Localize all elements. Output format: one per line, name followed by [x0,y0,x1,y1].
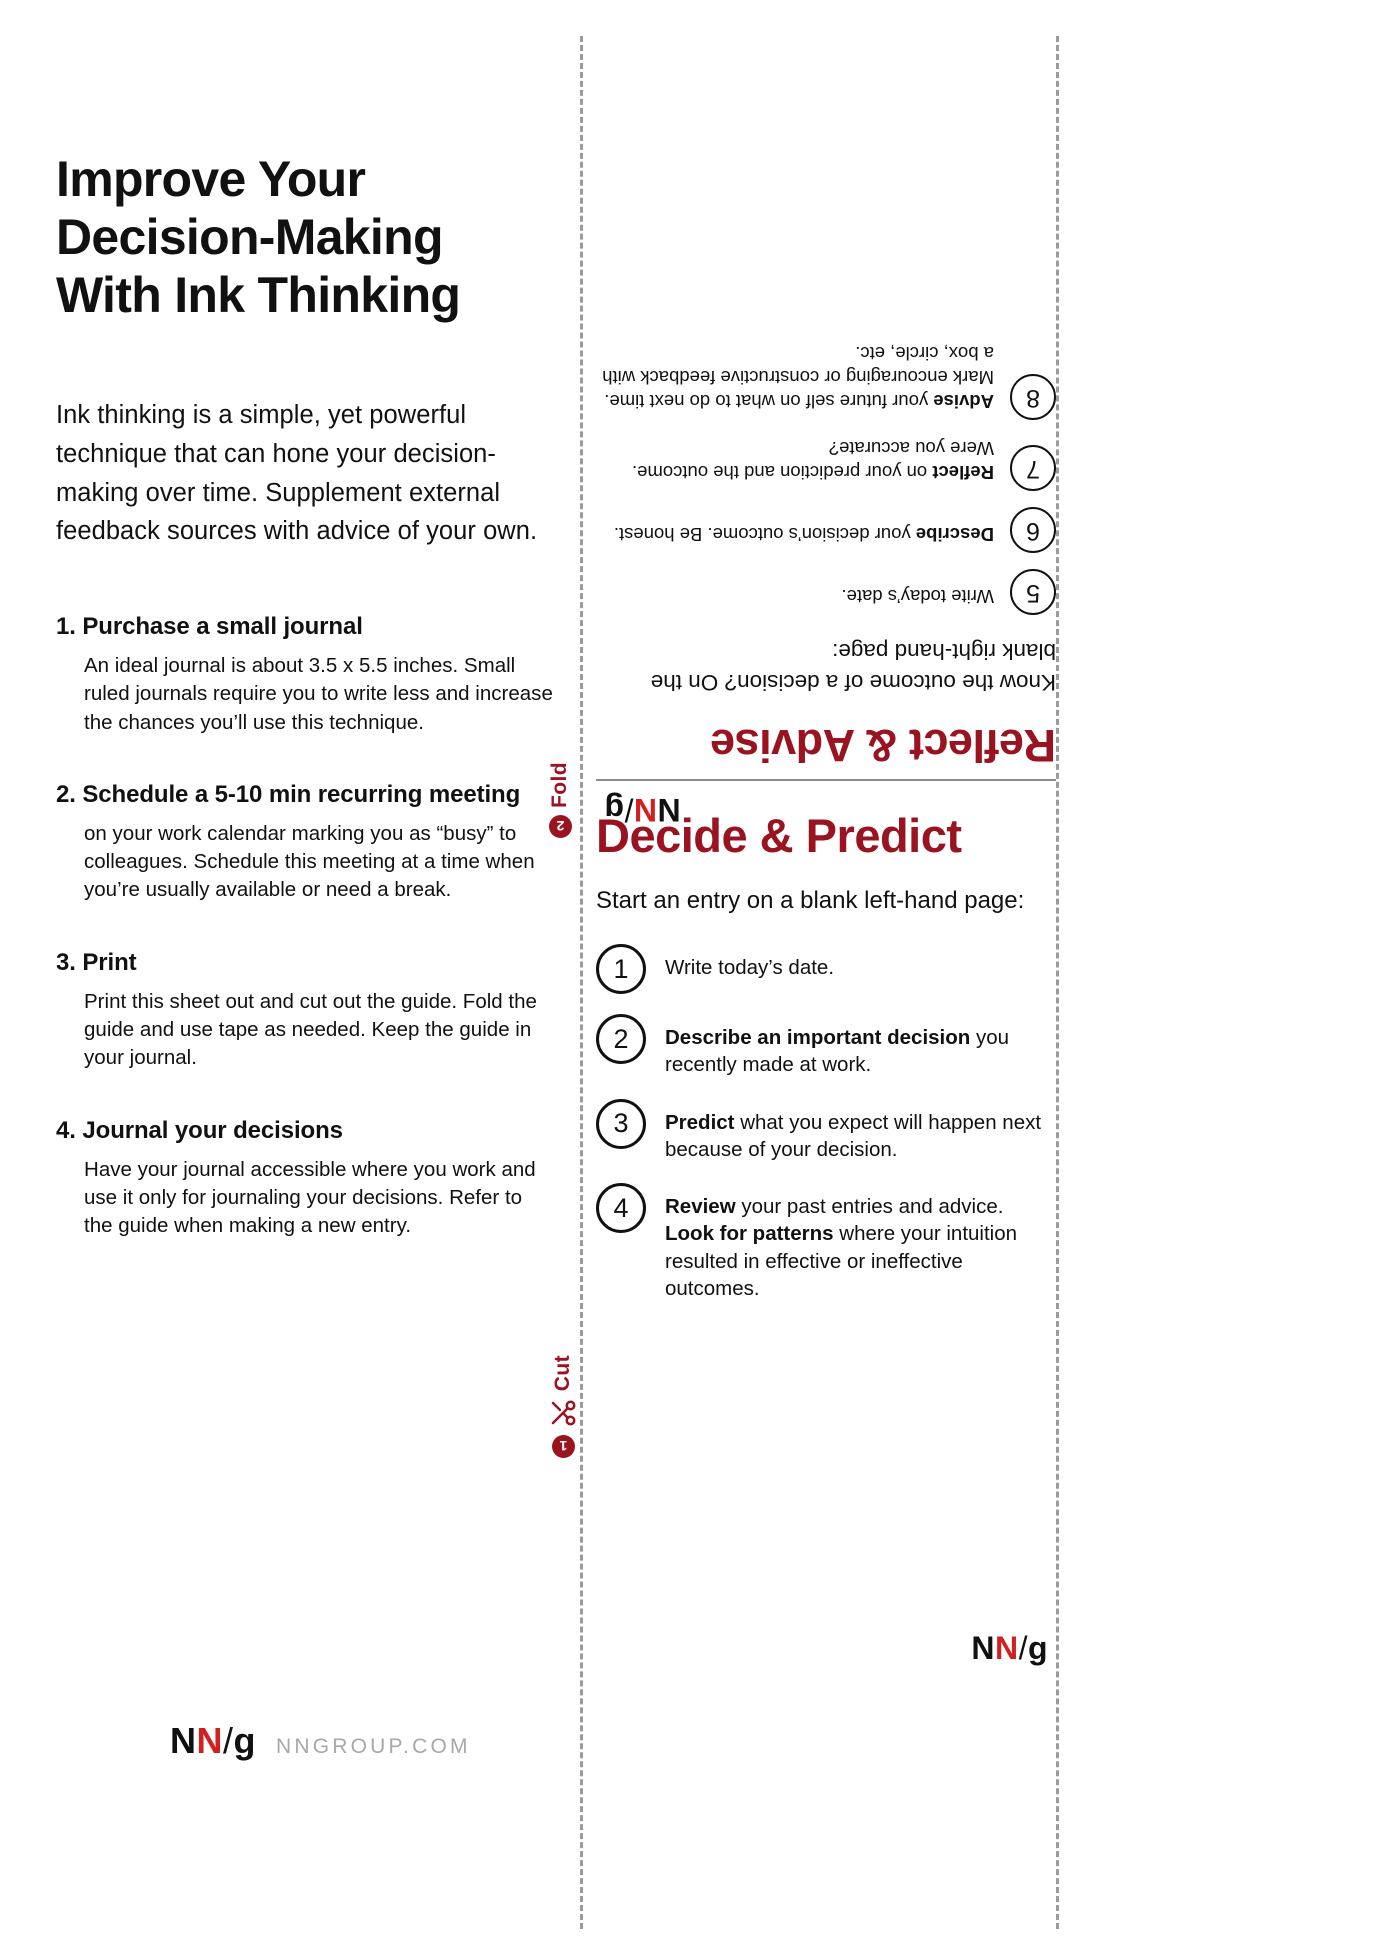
card-logo: NN/g [971,1630,1048,1910]
logo-letter-g: g [234,1720,257,1762]
step-number-circle: 8 [1010,374,1056,420]
scissors-icon [548,1398,578,1428]
step-text: Review your past entries and advice. Loo… [665,1183,1056,1302]
step-body: on your work calendar marking you as “bu… [56,820,556,905]
step-text-lead: Predict [665,1111,735,1134]
list-item: 3 Predict what you expect will happen ne… [596,1099,1056,1164]
instruction-step: 3. Print Print this sheet out and cut ou… [56,949,556,1073]
fold-marker-label: Fold [548,762,572,808]
nng-logo: NN/g [971,1630,1048,1667]
card-title: Decide & Predict [596,810,1056,862]
instructions-column: Improve Your Decision-Making With Ink Th… [56,150,556,1284]
card-title: Reflect & Advise [596,721,1056,771]
step-text-lead: Describe an important decision [665,1026,970,1049]
fold-marker: Fold 2 [548,762,572,838]
step-number-circle: 1 [596,944,646,994]
cut-marker-badge: 1 [552,1435,575,1458]
page-title: Improve Your Decision-Making With Ink Th… [56,150,556,324]
logo-url-text: NNGROUP.COM [276,1735,471,1759]
step-body: Have your journal accessible where you w… [56,1156,556,1241]
step-number-circle: 5 [1010,570,1056,616]
footer-logo-row: NN/g NNGROUP.COM [170,1720,471,1762]
logo-letter-n-black: N [971,1630,995,1667]
step-text-lead: Reflect [932,463,994,484]
step-heading: 2. Schedule a 5-10 min recurring meeting [56,781,556,809]
card-reflect-and-advise: Reflect & Advise Know the outcome of a d… [596,80,1056,770]
step-heading: 3. Print [56,949,556,977]
step-text-lead2: Look for patterns [665,1222,834,1245]
card-decide-and-predict: Decide & Predict Start an entry on a bla… [596,810,1056,1910]
list-item: 4 Review your past entries and advice. L… [596,1183,1056,1302]
logo-letter-n-red: N [197,1720,224,1762]
step-number-circle: 6 [1010,508,1056,554]
step-text: Write today’s date. [665,944,834,981]
cut-marker-label: Cut [551,1355,575,1391]
list-item: 8 Advise your future self on what to do … [596,341,1056,420]
logo-slash: / [1019,1630,1028,1667]
instruction-step: 2. Schedule a 5-10 min recurring meeting… [56,781,556,905]
step-text-lead: Advise [933,391,994,412]
step-text-lead: Describe [916,525,994,546]
card-lede: Start an entry on a blank left-hand page… [596,884,1056,919]
step-body: An ideal journal is about 3.5 x 5.5 inch… [56,652,556,737]
numbered-step-list: 1 Write today’s date. 2 Describe an impo… [596,944,1056,1302]
list-item: 7 Reflect on your prediction and the out… [596,436,1056,491]
step-body: Print this sheet out and cut out the gui… [56,988,556,1073]
fold-separator-line [596,779,1056,781]
step-text: Predict what you expect will happen next… [665,1099,1056,1164]
step-text-rest: your past entries and advice. [736,1195,1004,1218]
step-text: Write today’s date. [841,584,994,615]
fold-marker-badge: 2 [549,815,572,838]
cut-guide-line-left [580,36,583,1929]
step-text-rest: Write today’s date. [665,956,834,979]
step-number-circle: 3 [596,1099,646,1149]
step-text: Describe an important decision you recen… [665,1014,1056,1079]
cut-marker: Cut 1 [548,1355,578,1458]
intro-paragraph: Ink thinking is a simple, yet powerful t… [56,396,556,551]
step-number-circle: 4 [596,1183,646,1233]
list-item: 2 Describe an important decision you rec… [596,1014,1056,1079]
list-item: 5 Write today’s date. [596,570,1056,616]
logo-slash: / [223,1720,234,1762]
step-text-rest: Write today’s date. [841,587,994,608]
step-heading: 1. Purchase a small journal [56,613,556,641]
list-item: 6 Describe your decision’s outcome. Be h… [596,508,1056,554]
printable-guide-page: Improve Your Decision-Making With Ink Th… [0,0,1384,1957]
step-number-circle: 2 [596,1014,646,1064]
card-lede: Know the outcome of a decision? On the b… [596,636,1056,699]
step-text-rest: your decision’s outcome. Be honest. [614,525,916,546]
instruction-step: 1. Purchase a small journal An ideal jou… [56,613,556,737]
list-item: 1 Write today’s date. [596,944,1056,994]
logo-letter-n-red: N [995,1630,1019,1667]
step-text-lead: Review [665,1195,736,1218]
numbered-step-list: 5 Write today’s date. 6 Describe your de… [596,341,1056,615]
step-text: Advise your future self on what to do ne… [596,341,994,420]
cut-guide-line-right [1056,36,1059,1929]
logo-letter-n-black: N [170,1720,197,1762]
step-number-circle: 7 [1010,446,1056,492]
step-text: Describe your decision’s outcome. Be hon… [614,522,994,553]
nng-logo: NN/g [170,1720,256,1762]
step-heading: 4. Journal your decisions [56,1117,556,1145]
step-text: Reflect on your prediction and the outco… [596,436,994,491]
instruction-step: 4. Journal your decisions Have your jour… [56,1117,556,1241]
logo-letter-g: g [1028,1630,1048,1667]
